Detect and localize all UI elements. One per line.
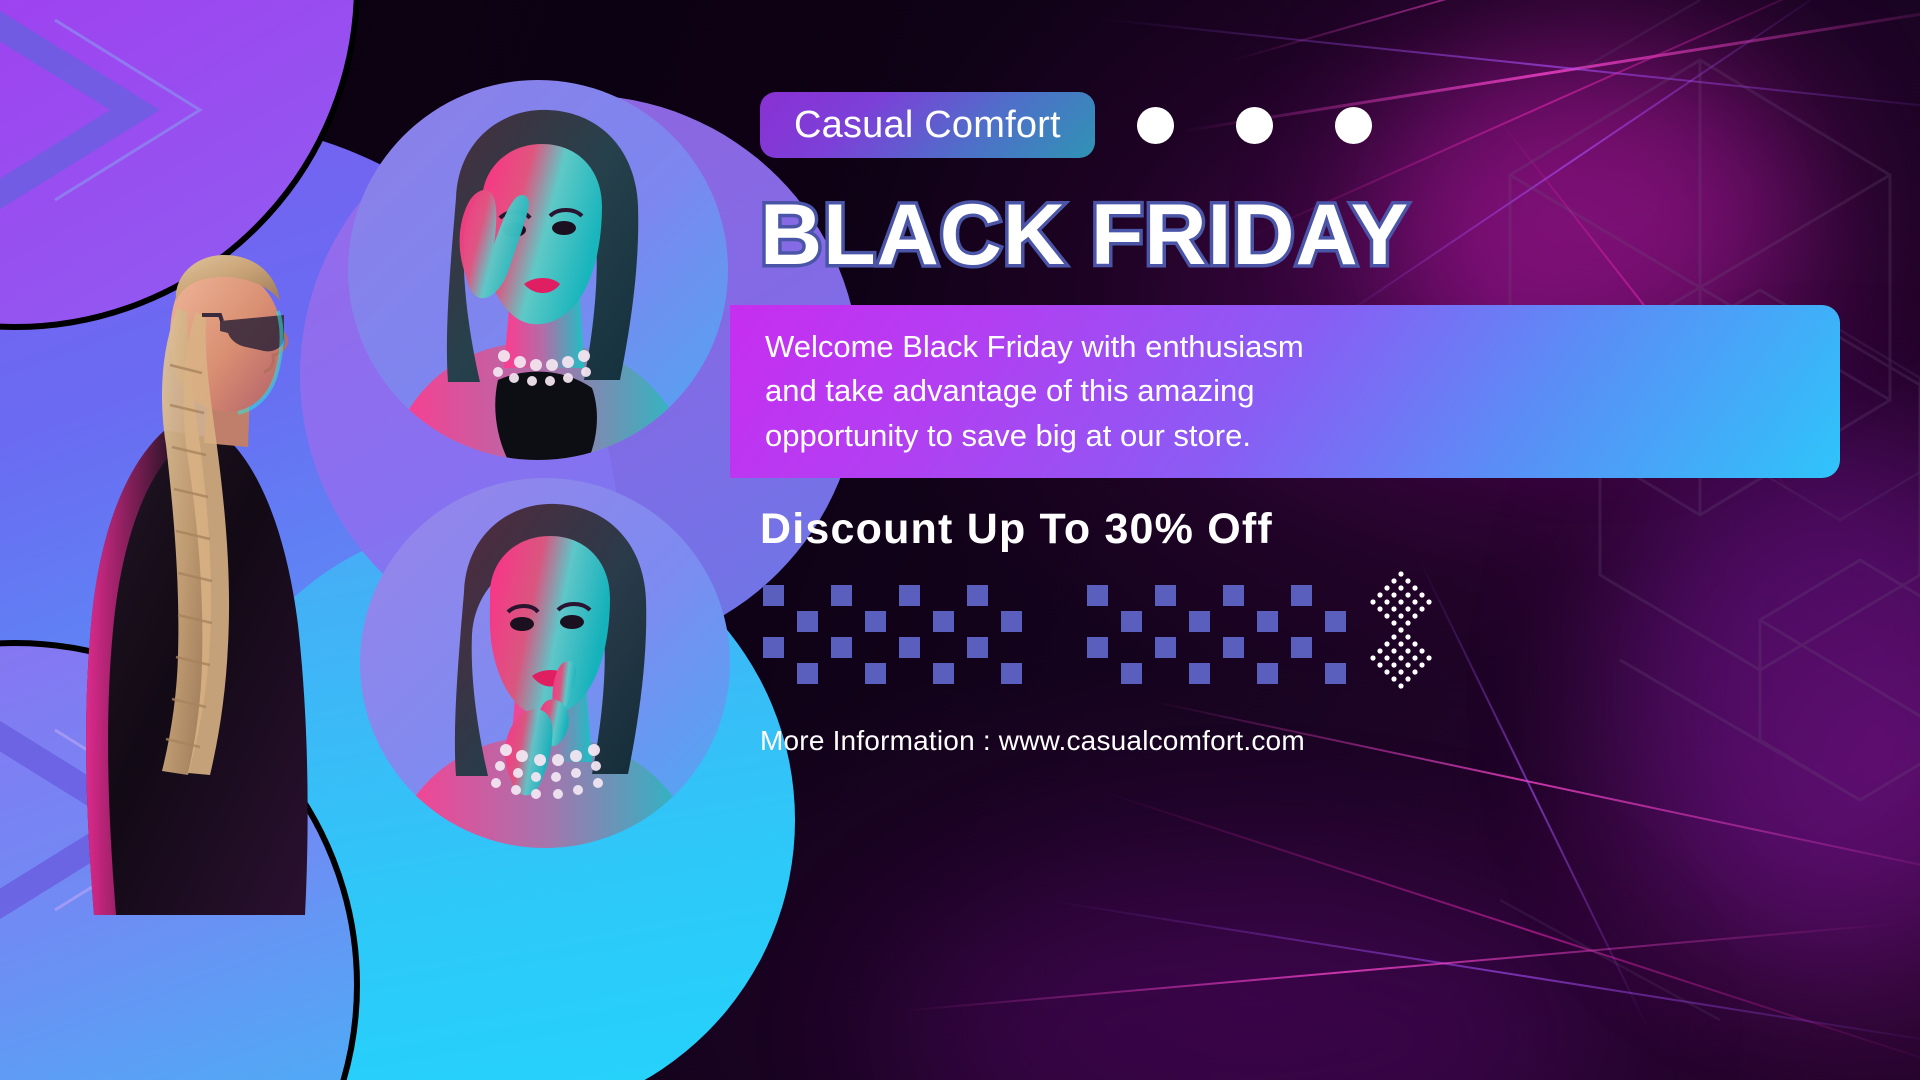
checker-cell	[1257, 637, 1278, 658]
checker-cell	[933, 637, 954, 658]
brand-label: Casual Comfort	[794, 104, 1061, 147]
checkerboard-decoration	[763, 585, 1359, 689]
checker-cell	[831, 637, 852, 658]
checker-cell	[1291, 611, 1312, 632]
checker-cell	[1155, 637, 1176, 658]
diamond-ornament-icon	[1365, 570, 1437, 690]
checker-cell	[1223, 585, 1244, 606]
footer-info[interactable]: More Information : www.casualcomfort.com	[760, 725, 1305, 757]
banner-canvas: Casual Comfort BLACK FRIDAY Welcome Blac…	[0, 0, 1920, 1080]
checker-cell	[967, 663, 988, 684]
checker-cell	[1087, 663, 1108, 684]
brand-pill[interactable]: Casual Comfort	[760, 92, 1095, 158]
page-title: BLACK FRIDAY	[760, 186, 1920, 285]
checker-cell	[865, 611, 886, 632]
checker-block-2	[1087, 585, 1359, 689]
checker-cell	[1325, 585, 1346, 606]
checker-cell	[831, 663, 852, 684]
checker-cell	[1087, 611, 1108, 632]
checker-cell	[1001, 663, 1022, 684]
promo-paragraph-box: Welcome Black Friday with enthusiasm and…	[730, 305, 1840, 478]
checker-cell	[1189, 585, 1210, 606]
portrait-photo-top	[348, 80, 728, 460]
checker-cell	[1155, 611, 1176, 632]
checker-cell	[967, 637, 988, 658]
checker-cell	[763, 611, 784, 632]
promo-content: Casual Comfort BLACK FRIDAY Welcome Blac…	[755, 0, 1920, 1080]
checker-cell	[763, 585, 784, 606]
checker-cell	[1087, 585, 1108, 606]
checker-cell	[797, 637, 818, 658]
checker-cell	[831, 611, 852, 632]
dot-indicator-3[interactable]	[1335, 107, 1372, 144]
checker-cell	[763, 663, 784, 684]
checker-cell	[899, 663, 920, 684]
checker-cell	[1325, 637, 1346, 658]
checker-cell	[933, 611, 954, 632]
dot-indicator-2[interactable]	[1236, 107, 1273, 144]
checker-cell	[933, 585, 954, 606]
checker-cell	[1325, 663, 1346, 684]
checker-block-1	[763, 585, 1035, 689]
checker-cell	[1121, 611, 1142, 632]
checker-cell	[1257, 585, 1278, 606]
checker-cell	[865, 663, 886, 684]
checker-cell	[1291, 663, 1312, 684]
checker-cell	[899, 585, 920, 606]
checker-cell	[1189, 663, 1210, 684]
checker-cell	[1291, 585, 1312, 606]
checker-cell	[1121, 663, 1142, 684]
dot-indicator-1[interactable]	[1137, 107, 1174, 144]
checker-cell	[1189, 611, 1210, 632]
model-photo-hoodie	[70, 215, 400, 915]
checker-cell	[865, 585, 886, 606]
checker-cell	[1001, 611, 1022, 632]
checker-cell	[1223, 611, 1244, 632]
checker-cell	[1257, 663, 1278, 684]
checker-cell	[967, 611, 988, 632]
checker-cell	[933, 663, 954, 684]
dot-indicator-group	[1137, 107, 1372, 144]
promo-line-2: and take advantage of this amazing	[765, 369, 1405, 413]
checker-cell	[1155, 663, 1176, 684]
checker-cell	[1121, 585, 1142, 606]
portrait-photo-bottom	[360, 478, 730, 848]
checker-cell	[865, 637, 886, 658]
checker-cell	[1223, 663, 1244, 684]
checker-cell	[1257, 611, 1278, 632]
checker-cell	[1001, 637, 1022, 658]
checker-cell	[763, 637, 784, 658]
checker-cell	[1087, 637, 1108, 658]
promo-paragraph-text: Welcome Black Friday with enthusiasm and…	[765, 325, 1405, 457]
checker-cell	[797, 611, 818, 632]
checker-cell	[831, 585, 852, 606]
checker-cell	[1001, 585, 1022, 606]
checker-cell	[899, 611, 920, 632]
brand-row: Casual Comfort	[760, 92, 1372, 158]
checker-cell	[797, 585, 818, 606]
promo-line-1: Welcome Black Friday with enthusiasm	[765, 325, 1405, 369]
checker-cell	[967, 585, 988, 606]
checker-cell	[1291, 637, 1312, 658]
discount-heading: Discount Up To 30% Off	[760, 505, 1920, 554]
checker-cell	[1189, 637, 1210, 658]
checker-cell	[1155, 585, 1176, 606]
checker-cell	[899, 637, 920, 658]
checker-cell	[1325, 611, 1346, 632]
promo-line-3: opportunity to save big at our store.	[765, 414, 1405, 458]
checker-cell	[1121, 637, 1142, 658]
checker-cell	[797, 663, 818, 684]
checker-cell	[1223, 637, 1244, 658]
